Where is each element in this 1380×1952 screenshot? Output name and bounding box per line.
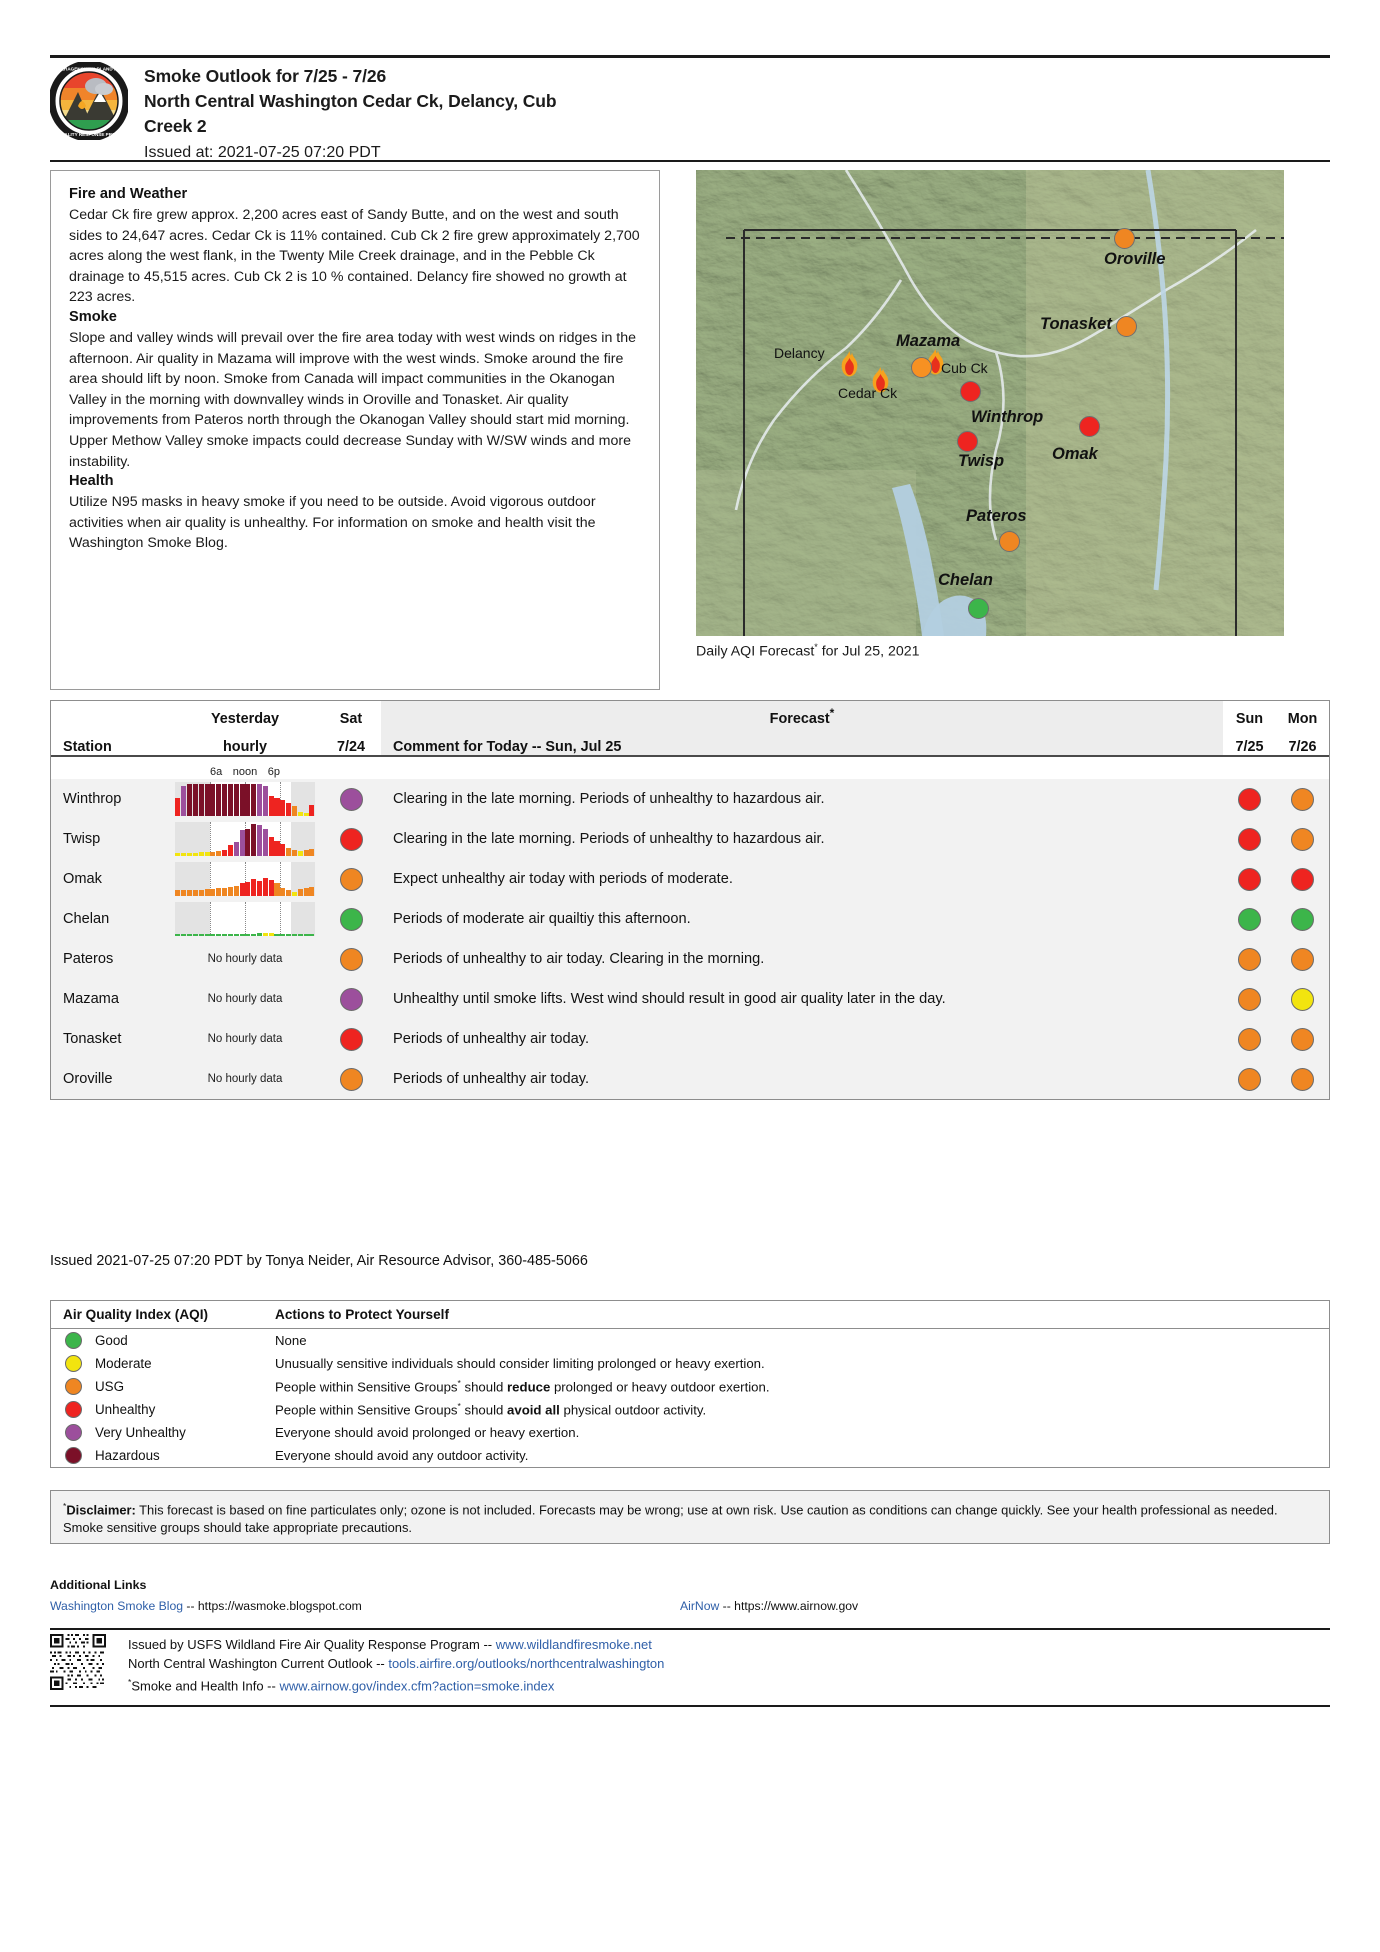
hourly-axis-ticks: 6anoon6p — [169, 757, 321, 779]
sparkline-bar — [292, 934, 297, 936]
hourly-sparkline-chart — [175, 782, 315, 816]
sparkline-bar — [210, 852, 215, 856]
sparkline-bar — [216, 888, 221, 896]
issued-by-line: Issued 2021-07-25 07:20 PDT by Tonya Nei… — [50, 1253, 588, 1269]
sparkline-bar — [187, 784, 192, 816]
sparkline-bar — [298, 851, 303, 856]
map-aqi-dot[interactable] — [960, 381, 981, 402]
sparkline-bar — [234, 886, 239, 896]
sparkline-bar — [181, 890, 186, 896]
forecast-comment-cell: Periods of unhealthy to air today. Clear… — [381, 946, 1223, 973]
section-fire-and-weather: Fire and Weather Cedar Ck fire grew appr… — [69, 185, 641, 308]
sparkline-bar — [298, 812, 303, 816]
sparkline-bar — [263, 786, 268, 816]
sparkline-bar — [228, 887, 233, 896]
aqi-dot — [1238, 868, 1261, 891]
hourly-sparkline-cell: No hourly data — [169, 953, 321, 965]
sun-aqi-cell — [1223, 868, 1276, 891]
forecast-table: Yesterday Sat Station hourly 7/24 Foreca… — [50, 700, 1330, 1100]
station-name-cell: Chelan — [51, 911, 169, 927]
aqi-category-dot — [65, 1424, 82, 1441]
sparkline-bar — [193, 784, 198, 816]
aqi-dot — [340, 908, 363, 931]
aqi-dot — [1238, 948, 1261, 971]
forecast-rows-container: WinthropClearing in the late morning. Pe… — [51, 779, 1329, 1099]
forecast-table-header: Yesterday Sat Station hourly 7/24 Foreca… — [51, 701, 1329, 757]
aqi-category-cell: Moderate — [51, 1355, 263, 1372]
sparkline-bar — [199, 784, 204, 816]
aqi-legend-col-category: Air Quality Index (AQI) — [51, 1307, 263, 1322]
sat-aqi-cell — [321, 788, 381, 811]
footer-line-smoke-health: *Smoke and Health Info -- www.airnow.gov… — [128, 1673, 664, 1695]
sparkline-bar — [304, 934, 309, 936]
header-mon: Mon — [1276, 711, 1329, 727]
terrain-map[interactable] — [696, 170, 1284, 636]
sparkline-bar — [245, 934, 250, 936]
document-header: INTERAGENCY WILDLAND FIRE AIR QUALITY RE… — [50, 62, 1330, 165]
sparkline-bar — [222, 888, 227, 896]
station-name-cell: Twisp — [51, 831, 169, 847]
sparkline-bar — [193, 853, 198, 856]
sparkline-bars — [175, 782, 315, 816]
sparkline-bar — [175, 890, 180, 896]
map-city-label: Oroville — [1104, 250, 1165, 269]
sparkline-bar — [280, 800, 285, 816]
aqi-legend-table: Air Quality Index (AQI) Actions to Prote… — [50, 1300, 1330, 1468]
mon-aqi-cell — [1276, 788, 1329, 811]
sparkline-bar — [274, 883, 279, 896]
hourly-sparkline-cell: No hourly data — [169, 993, 321, 1005]
header-hourly: hourly — [169, 739, 321, 755]
aqi-category-name: Unhealthy — [95, 1402, 155, 1417]
table-row: TonasketNo hourly dataPeriods of unhealt… — [51, 1019, 1329, 1059]
aqi-dot — [340, 1068, 363, 1091]
no-hourly-data-label: No hourly data — [169, 993, 321, 1005]
sparkline-bar — [309, 805, 314, 816]
aqi-category-name: Moderate — [95, 1356, 152, 1371]
aqi-forecast-map-panel: DelancyCedar CkCub CkOrovilleTonasketMaz… — [696, 170, 1330, 690]
sparkline-bar — [205, 934, 210, 936]
map-caption-text: Daily AQI Forecast — [696, 644, 814, 660]
sparkline-bar — [193, 934, 198, 936]
sun-aqi-cell — [1223, 1068, 1276, 1091]
header-yesterday: Yesterday — [169, 711, 321, 727]
aqi-dot — [1291, 1028, 1314, 1051]
section-body: Slope and valley winds will prevail over… — [69, 328, 641, 472]
sparkline-bar — [274, 841, 279, 856]
sparkline-bar — [234, 842, 239, 856]
table-row: TwispClearing in the late morning. Perio… — [51, 819, 1329, 859]
sparkline-bar — [292, 806, 297, 816]
disclaimer-text: This forecast is based on fine particula… — [63, 1502, 1278, 1535]
aqi-legend-rows: GoodNoneModerateUnusually sensitive indi… — [51, 1329, 1329, 1467]
footer-line-current-outlook: North Central Washington Current Outlook… — [128, 1654, 664, 1673]
sparkline-bar — [199, 890, 204, 896]
iwfaqrp-logo-icon: INTERAGENCY WILDLAND FIRE AIR QUALITY RE… — [50, 62, 128, 140]
sparkline-bar — [257, 784, 262, 816]
sparkline-bar — [309, 934, 314, 936]
hourly-sparkline-cell — [169, 862, 321, 896]
aqi-category-name: Hazardous — [95, 1448, 160, 1463]
no-hourly-data-label: No hourly data — [169, 1073, 321, 1085]
sat-aqi-cell — [321, 1028, 381, 1051]
aqi-category-dot — [65, 1401, 82, 1418]
footer-line-issued-by: Issued by USFS Wildland Fire Air Quality… — [128, 1635, 664, 1654]
map-city-label: Winthrop — [971, 408, 1043, 427]
map-city-label: Mazama — [896, 332, 960, 351]
sparkline-bar — [240, 784, 245, 816]
hourly-sparkline-cell: No hourly data — [169, 1073, 321, 1085]
aqi-category-dot — [65, 1378, 82, 1395]
sparkline-bar — [187, 853, 192, 856]
sparkline-bar — [199, 852, 204, 856]
sparkline-bar — [228, 784, 233, 816]
no-hourly-data-label: No hourly data — [169, 953, 321, 965]
airnow-label: AirNow — [680, 1599, 719, 1613]
fire-flame-icon — [837, 350, 862, 378]
sparkline-bar — [304, 850, 309, 856]
aqi-legend-row: UnhealthyPeople within Sensitive Groups*… — [51, 1398, 1329, 1421]
sparkline-bar — [269, 880, 274, 896]
sun-aqi-cell — [1223, 988, 1276, 1011]
sparkline-bar — [245, 829, 250, 856]
wildlandfiresmoke-link[interactable]: www.wildlandfiresmoke.net — [496, 1637, 652, 1652]
header-sat-date: 7/24 — [321, 739, 381, 755]
footer-line2-prefix: North Central Washington Current Outlook… — [128, 1656, 388, 1671]
footer-line1-prefix: Issued by USFS Wildland Fire Air Quality… — [128, 1637, 496, 1652]
sparkline-bar — [251, 934, 256, 936]
sparkline-bar — [304, 888, 309, 896]
aqi-dot — [1291, 948, 1314, 971]
forecast-comment-cell: Expect unhealthy air today with periods … — [381, 866, 1223, 893]
sun-aqi-cell — [1223, 828, 1276, 851]
mon-aqi-cell — [1276, 828, 1329, 851]
sparkline-bar — [175, 934, 180, 936]
sparkline-bar — [175, 853, 180, 856]
aqi-action-cell: People within Sensitive Groups* should a… — [263, 1401, 1329, 1417]
table-row: PaterosNo hourly dataPeriods of unhealth… — [51, 939, 1329, 979]
aqi-dot — [1291, 788, 1314, 811]
sparkline-bar — [292, 850, 297, 856]
aqi-dot — [1238, 788, 1261, 811]
map-aqi-dot[interactable] — [968, 598, 989, 619]
aqi-legend-row: USGPeople within Sensitive Groups* shoul… — [51, 1375, 1329, 1398]
sparkline-bar — [181, 934, 186, 936]
aqi-dot — [1238, 908, 1261, 931]
aqi-legend-row: Very UnhealthyEveryone should avoid prol… — [51, 1421, 1329, 1444]
aqi-category-dot — [65, 1332, 82, 1349]
narrative-panel: Fire and Weather Cedar Ck fire grew appr… — [50, 170, 660, 690]
hourly-axis-tick: noon — [233, 766, 257, 778]
mon-aqi-cell — [1276, 908, 1329, 931]
section-smoke: Smoke Slope and valley winds will prevai… — [69, 308, 641, 472]
current-outlook-link[interactable]: tools.airfire.org/outlooks/northcentralw… — [388, 1656, 664, 1671]
aqi-action-cell: People within Sensitive Groups* should r… — [263, 1378, 1329, 1394]
aqi-category-cell: Unhealthy — [51, 1401, 263, 1418]
washington-smoke-blog-url: -- https://wasmoke.blogspot.com — [183, 1599, 362, 1613]
sparkline-bar — [280, 934, 285, 936]
sat-aqi-cell — [321, 868, 381, 891]
fire-name-label: Cub Ck — [941, 360, 988, 376]
sparkline-bar — [181, 853, 186, 856]
sparkline-bar — [205, 889, 210, 896]
header-forecast-asterisk: * — [830, 706, 835, 720]
station-name-cell: Mazama — [51, 991, 169, 1007]
aqi-dot — [1291, 1068, 1314, 1091]
table-row: OrovilleNo hourly dataPeriods of unhealt… — [51, 1059, 1329, 1099]
header-sun: Sun — [1223, 711, 1276, 727]
aqi-legend-header: Air Quality Index (AQI) Actions to Prote… — [51, 1301, 1329, 1329]
sparkline-bar — [298, 934, 303, 936]
aqi-category-cell: Good — [51, 1332, 263, 1349]
aqi-action-cell: Everyone should avoid prolonged or heavy… — [263, 1425, 1329, 1440]
sparkline-bar — [286, 803, 291, 816]
sat-aqi-cell — [321, 1068, 381, 1091]
smoke-health-info-link[interactable]: www.airnow.gov/index.cfm?action=smoke.in… — [279, 1678, 554, 1693]
footer-rule-top — [50, 1628, 1330, 1630]
sparkline-bar — [240, 830, 245, 856]
sparkline-bar — [280, 844, 285, 856]
sparkline-bar — [234, 784, 239, 816]
map-city-label: Chelan — [938, 571, 993, 590]
sat-aqi-cell — [321, 948, 381, 971]
map-aqi-dot[interactable] — [1116, 316, 1137, 337]
sparkline-bar — [216, 934, 221, 936]
sparkline-bar — [286, 848, 291, 856]
sun-aqi-cell — [1223, 908, 1276, 931]
section-heading: Health — [69, 472, 641, 491]
map-city-label: Twisp — [958, 452, 1004, 471]
aqi-dot — [340, 948, 363, 971]
header-comment: Comment for Today -- Sun, Jul 25 — [381, 739, 1223, 755]
hourly-sparkline-chart — [175, 862, 315, 896]
no-hourly-data-label: No hourly data — [169, 1033, 321, 1045]
aqi-dot — [340, 868, 363, 891]
table-row: OmakExpect unhealthy air today with peri… — [51, 859, 1329, 899]
table-row: MazamaNo hourly dataUnhealthy until smok… — [51, 979, 1329, 1019]
aqi-category-cell: Very Unhealthy — [51, 1424, 263, 1441]
sparkline-bar — [210, 784, 215, 816]
header-forecast-label: Forecast — [770, 711, 830, 727]
footer-text-lines: Issued by USFS Wildland Fire Air Quality… — [128, 1634, 664, 1695]
header-rule-top — [50, 55, 1330, 58]
sparkline-bar — [216, 784, 221, 816]
aqi-dot — [1291, 988, 1314, 1011]
sparkline-bar — [234, 934, 239, 936]
sparkline-bar — [205, 784, 210, 816]
qr-code-icon — [50, 1634, 106, 1690]
aqi-dot — [1238, 828, 1261, 851]
sparkline-bar — [228, 934, 233, 936]
sparkline-bar — [309, 849, 314, 856]
aqi-dot — [1238, 1068, 1261, 1091]
additional-links-block: Additional Links Washington Smoke Blog -… — [50, 1578, 1330, 1615]
disclaimer-label: Disclaimer: — [66, 1502, 136, 1517]
sat-aqi-cell — [321, 988, 381, 1011]
sparkline-bar — [304, 813, 309, 816]
sparkline-bar — [210, 934, 215, 936]
hourly-sparkline-cell: No hourly data — [169, 1033, 321, 1045]
outlook-title-line2: North Central Washington Cedar Ck, Delan… — [144, 89, 556, 114]
footer-line3-prefix: Smoke and Health Info -- — [131, 1678, 279, 1693]
aqi-dot — [1238, 988, 1261, 1011]
section-heading: Smoke — [69, 308, 641, 327]
sparkline-bars — [175, 862, 315, 896]
sparkline-bar — [228, 845, 233, 856]
hourly-axis-tick: 6p — [268, 766, 280, 778]
forecast-comment-cell: Clearing in the late morning. Periods of… — [381, 786, 1223, 813]
map-aqi-dot[interactable] — [911, 357, 932, 378]
sparkline-bar — [222, 934, 227, 936]
sparkline-bar — [187, 890, 192, 896]
section-body: Utilize N95 masks in heavy smoke if you … — [69, 492, 641, 554]
aqi-dot — [1238, 1028, 1261, 1051]
aqi-legend-col-actions: Actions to Protect Yourself — [263, 1307, 1329, 1322]
header-mon-date: 7/26 — [1276, 739, 1329, 755]
sparkline-bar — [263, 933, 268, 936]
sparkline-bar — [210, 889, 215, 896]
additional-links-heading: Additional Links — [50, 1578, 1330, 1592]
sat-aqi-cell — [321, 908, 381, 931]
washington-smoke-blog-link[interactable]: Washington Smoke Blog -- https://wasmoke… — [50, 1599, 362, 1613]
aqi-category-name: Very Unhealthy — [95, 1425, 186, 1440]
header-forecast: Forecast* — [770, 706, 835, 727]
sparkline-bar — [286, 890, 291, 896]
washington-smoke-blog-label: Washington Smoke Blog — [50, 1599, 183, 1613]
sparkline-bar — [193, 890, 198, 896]
aqi-category-cell: Hazardous — [51, 1447, 263, 1464]
outlook-title-line3: Creek 2 — [144, 114, 556, 139]
sparkline-bar — [263, 878, 268, 896]
map-city-label: Pateros — [966, 507, 1027, 526]
sparkline-bars — [175, 822, 315, 856]
footer-rule-bottom — [50, 1705, 1330, 1707]
hourly-sparkline-cell — [169, 822, 321, 856]
sparkline-bar — [240, 934, 245, 936]
sun-aqi-cell — [1223, 788, 1276, 811]
aqi-legend-row: HazardousEveryone should avoid any outdo… — [51, 1444, 1329, 1467]
header-text-block: Smoke Outlook for 7/25 - 7/26 North Cent… — [144, 62, 556, 165]
aqi-dot — [340, 828, 363, 851]
map-city-label: Tonasket — [1040, 315, 1112, 334]
mon-aqi-cell — [1276, 948, 1329, 971]
header-sun-date: 7/25 — [1223, 739, 1276, 755]
sparkline-bar — [309, 887, 314, 896]
hourly-sparkline-chart — [175, 902, 315, 936]
forecast-comment-cell: Clearing in the late morning. Periods of… — [381, 826, 1223, 853]
map-caption: Daily AQI Forecast* for Jul 25, 2021 — [696, 642, 920, 660]
sun-aqi-cell — [1223, 948, 1276, 971]
fire-name-label: Delancy — [774, 345, 825, 361]
airnow-link[interactable]: AirNow -- https://www.airnow.gov — [680, 1599, 858, 1613]
map-aqi-dot[interactable] — [999, 531, 1020, 552]
fire-name-label: Cedar Ck — [838, 385, 897, 401]
aqi-dot — [1291, 908, 1314, 931]
map-aqi-dot[interactable] — [1079, 416, 1100, 437]
smoke-outlook-page: INTERAGENCY WILDLAND FIRE AIR QUALITY RE… — [0, 0, 1380, 1952]
svg-text:AIR QUALITY RESPONSE PROGRAM: AIR QUALITY RESPONSE PROGRAM — [50, 132, 128, 137]
section-body: Cedar Ck fire grew approx. 2,200 acres e… — [69, 205, 641, 308]
sun-aqi-cell — [1223, 1028, 1276, 1051]
aqi-category-name: USG — [95, 1379, 124, 1394]
hourly-axis-tick: 6a — [210, 766, 222, 778]
forecast-comment-cell: Unhealthy until smoke lifts. West wind s… — [381, 986, 1223, 1013]
sparkline-bar — [269, 933, 274, 936]
aqi-dot — [340, 1028, 363, 1051]
section-health: Health Utilize N95 masks in heavy smoke … — [69, 472, 641, 554]
sparkline-bar — [245, 882, 250, 896]
sparkline-bar — [257, 933, 262, 936]
section-heading: Fire and Weather — [69, 185, 641, 204]
sparkline-bar — [175, 798, 180, 816]
table-row: ChelanPeriods of moderate air quailtiy t… — [51, 899, 1329, 939]
sparkline-bar — [222, 850, 227, 856]
map-aqi-dot[interactable] — [1114, 228, 1135, 249]
sparkline-bar — [269, 796, 274, 816]
sparkline-bars — [175, 902, 315, 936]
station-name-cell: Tonasket — [51, 1031, 169, 1047]
aqi-category-name: Good — [95, 1333, 128, 1348]
forecast-comment-cell: Periods of unhealthy air today. — [381, 1066, 1223, 1093]
aqi-dot — [340, 988, 363, 1011]
aqi-dot — [1291, 828, 1314, 851]
aqi-legend-row: ModerateUnusually sensitive individuals … — [51, 1352, 1329, 1375]
sparkline-bar — [181, 786, 186, 816]
aqi-legend-row: GoodNone — [51, 1329, 1329, 1352]
document-footer: Issued by USFS Wildland Fire Air Quality… — [50, 1634, 1330, 1695]
sparkline-bar — [251, 824, 256, 856]
aqi-dot — [340, 788, 363, 811]
hourly-sparkline-cell — [169, 902, 321, 936]
table-row: WinthropClearing in the late morning. Pe… — [51, 779, 1329, 819]
forecast-comment-cell: Periods of moderate air quailtiy this af… — [381, 906, 1223, 933]
sparkline-bar — [257, 881, 262, 896]
sat-aqi-cell — [321, 828, 381, 851]
sparkline-bar — [205, 852, 210, 856]
station-name-cell: Oroville — [51, 1071, 169, 1087]
sparkline-bar — [245, 784, 250, 816]
sparkline-bar — [187, 934, 192, 936]
aqi-action-cell: Unusually sensitive individuals should c… — [263, 1356, 1329, 1371]
sparkline-bar — [199, 934, 204, 936]
sparkline-bar — [298, 889, 303, 896]
sparkline-bar — [269, 837, 274, 856]
sparkline-bar — [263, 829, 268, 856]
station-name-cell: Winthrop — [51, 791, 169, 807]
aqi-action-cell: None — [263, 1333, 1329, 1348]
map-caption-date: for Jul 25, 2021 — [818, 644, 920, 660]
mon-aqi-cell — [1276, 1028, 1329, 1051]
sparkline-bar — [286, 934, 291, 936]
station-name-cell: Pateros — [51, 951, 169, 967]
sparkline-bar — [251, 784, 256, 816]
forecast-comment-cell: Periods of unhealthy air today. — [381, 1026, 1223, 1053]
header-rule-bottom — [50, 160, 1330, 162]
mon-aqi-cell — [1276, 1068, 1329, 1091]
sparkline-bar — [292, 892, 297, 896]
mon-aqi-cell — [1276, 988, 1329, 1011]
svg-text:INTERAGENCY WILDLAND FIRE: INTERAGENCY WILDLAND FIRE — [54, 67, 125, 72]
aqi-action-cell: Everyone should avoid any outdoor activi… — [263, 1448, 1329, 1463]
hourly-sparkline-chart — [175, 822, 315, 856]
station-name-cell: Omak — [51, 871, 169, 887]
map-aqi-dot[interactable] — [957, 431, 978, 452]
aqi-category-dot — [65, 1355, 82, 1372]
disclaimer-box: *Disclaimer: This forecast is based on f… — [50, 1490, 1330, 1544]
sparkline-bar — [274, 798, 279, 816]
mon-aqi-cell — [1276, 868, 1329, 891]
aqi-category-dot — [65, 1447, 82, 1464]
